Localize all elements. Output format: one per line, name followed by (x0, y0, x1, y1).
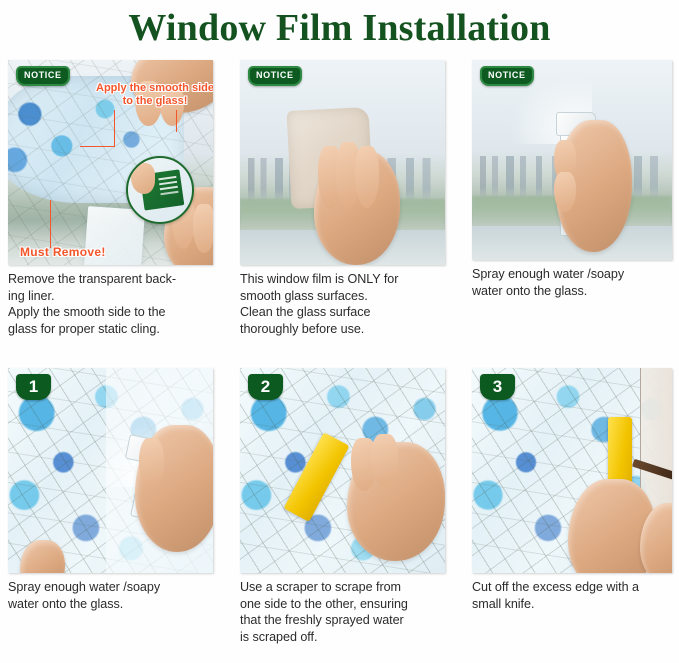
caption-line: one side to the other, ensuring (240, 596, 445, 613)
step-number-badge: 2 (248, 374, 283, 400)
callout-must-remove: Must Remove! (20, 245, 106, 259)
callout-leader-line (176, 110, 177, 132)
caption-line: ing liner. (8, 288, 213, 305)
inset-detail-circle (126, 156, 194, 224)
caption-line: Clean the glass surface (240, 304, 445, 321)
caption-line: This window film is ONLY for (240, 271, 445, 288)
step-number-badge: 1 (16, 374, 51, 400)
caption-line: Apply the smooth side to the (8, 304, 213, 321)
panel-2-caption: This window film is ONLY for smooth glas… (240, 271, 445, 337)
panel-2: NOTICE This window film is ONLY for smoo… (240, 60, 445, 337)
caption-line: Remove the transparent back- (8, 271, 213, 288)
panel-3-image: NOTICE (472, 60, 672, 260)
panel-1-caption: Remove the transparent back- ing liner. … (8, 271, 213, 337)
panel-2-image: NOTICE (240, 60, 445, 265)
panel-3: NOTICE Spray enough water /soapy water o… (472, 60, 672, 337)
panel-4-caption: Spray enough water /soapy water onto the… (8, 579, 213, 612)
panel-5: 2 Use a scraper to scrape from one side … (240, 368, 445, 645)
caption-line: Spray enough water /soapy (8, 579, 213, 596)
panel-row-bottom: 1 Spray enough water /soapy water onto t… (8, 368, 671, 645)
panel-6-image: 3 (472, 368, 672, 573)
caption-line: small knife. (472, 596, 672, 613)
caption-line: that the freshly sprayed water (240, 612, 445, 629)
caption-line: thoroughly before use. (240, 321, 445, 338)
callout-apply-smooth-side: Apply the smooth side to the glass! (94, 82, 213, 108)
panel-1: Apply the smooth side to the glass! Must… (8, 60, 213, 337)
caption-line: Cut off the excess edge with a (472, 579, 672, 596)
caption-line: water onto the glass. (8, 596, 213, 613)
caption-line: Spray enough water /soapy (472, 266, 672, 283)
notice-badge: NOTICE (480, 66, 534, 86)
hand-lower-left (20, 540, 65, 573)
step-number-badge: 3 (480, 374, 515, 400)
caption-line: water onto the glass. (472, 283, 672, 300)
inset-finger (131, 163, 155, 194)
panel-1-image: Apply the smooth side to the glass! Must… (8, 60, 213, 265)
caption-line: glass for proper static cling. (8, 321, 213, 338)
panel-6: 3 Cut off the excess edge with a small k… (472, 368, 672, 645)
instruction-sheet: Window Film Installation (0, 0, 679, 663)
callout-leader-line (80, 146, 115, 147)
caption-line: Use a scraper to scrape from (240, 579, 445, 596)
finger (193, 204, 214, 253)
panel-4-image: 1 (8, 368, 213, 573)
panel-4: 1 Spray enough water /soapy water onto t… (8, 368, 213, 645)
notice-badge: NOTICE (16, 66, 70, 86)
notice-badge: NOTICE (248, 66, 302, 86)
caption-line: smooth glass surfaces. (240, 288, 445, 305)
yellow-scraper (608, 417, 632, 487)
panel-6-caption: Cut off the excess edge with a small kni… (472, 579, 672, 612)
page-title: Window Film Installation (0, 0, 679, 52)
must-remove-leader-line (50, 200, 51, 248)
panel-row-top: Apply the smooth side to the glass! Must… (8, 60, 671, 337)
panel-3-caption: Spray enough water /soapy water onto the… (472, 266, 672, 299)
panel-5-image: 2 (240, 368, 445, 573)
caption-line: is scraped off. (240, 629, 445, 646)
panel-5-caption: Use a scraper to scrape from one side to… (240, 579, 445, 645)
callout-leader-line (114, 110, 115, 146)
